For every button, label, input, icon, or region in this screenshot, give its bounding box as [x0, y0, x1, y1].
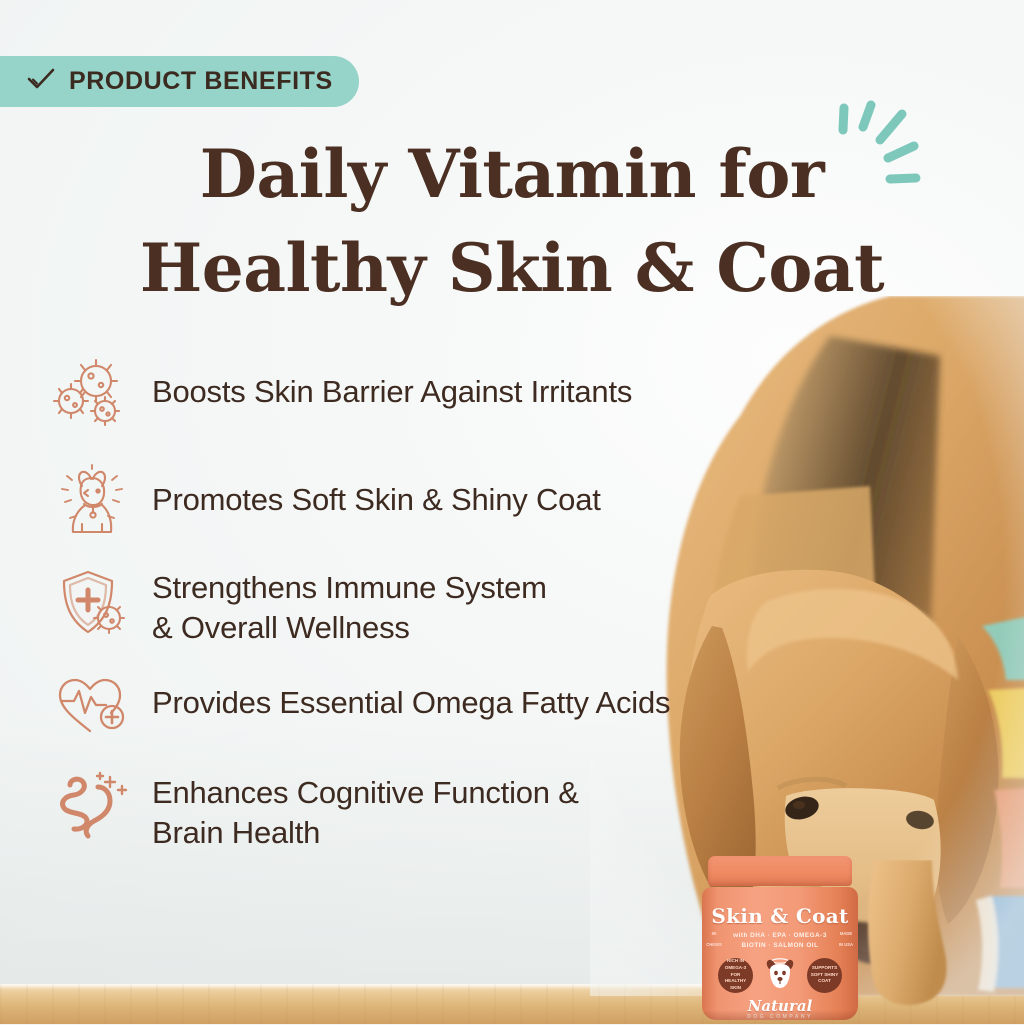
jar-body: 90 CHEWS MADE IN USA Skin & Coat with DH…	[702, 887, 858, 1020]
dog-head-halo-logo	[760, 955, 800, 995]
shiny-dog-icon	[52, 464, 130, 542]
product-benefits-label: PRODUCT BENEFITS	[69, 67, 333, 96]
benefit-text: Enhances Cognitive Function & Brain Heal…	[152, 769, 579, 854]
product-jar[interactable]: 90 CHEWS MADE IN USA Skin & Coat with DH…	[700, 856, 860, 1024]
benefit-text: Provides Essential Omega Fatty Acids	[152, 667, 670, 723]
jar-badge-right: SUPPORTS SOFT SHINY COAT	[807, 958, 842, 993]
shield-immune-icon	[52, 564, 130, 642]
benefit-text: Boosts Skin Barrier Against Irritants	[152, 356, 632, 412]
benefit-text: Promotes Soft Skin & Shiny Coat	[152, 464, 601, 520]
product-benefits-banner: PRODUCT BENEFITS	[0, 56, 359, 107]
germ-cells-icon	[52, 356, 130, 434]
jar-brand-name: Natural	[702, 997, 858, 1015]
headline-line-2: Healthy Skin & Coat	[40, 222, 984, 316]
benefit-text: Strengthens Immune System & Overall Well…	[152, 564, 547, 649]
benefit-item: Promotes Soft Skin & Shiny Coat	[52, 464, 872, 542]
gut-sparkle-icon	[52, 769, 130, 847]
jar-product-title: Skin & Coat	[702, 904, 858, 928]
sparkle-burst-icon	[828, 96, 938, 208]
check-icon	[26, 67, 56, 96]
jar-ingredients-line-1: with DHA · EPA · OMEGA-3	[702, 931, 858, 941]
jar-ingredients: with DHA · EPA · OMEGA-3 BIOTIN · SALMON…	[702, 931, 858, 950]
jar-lid	[708, 856, 852, 886]
jar-brand-subtitle: DOG COMPANY	[702, 1014, 858, 1020]
benefit-item: Boosts Skin Barrier Against Irritants	[52, 356, 872, 434]
heart-pulse-icon	[52, 667, 130, 745]
benefit-item: Enhances Cognitive Function & Brain Heal…	[52, 769, 872, 854]
jar-badge-left: RICH IN OMEGA-3 FOR HEALTHY SKIN	[718, 958, 753, 993]
jar-badge-row: RICH IN OMEGA-3 FOR HEALTHY SKIN SUPPORT…	[702, 955, 858, 995]
benefits-list: Boosts Skin Barrier Against Irritants	[52, 356, 872, 857]
benefit-item: Provides Essential Omega Fatty Acids	[52, 667, 872, 745]
marketing-image-canvas: PRODUCT BENEFITS Daily Vitamin for Healt…	[0, 0, 1024, 1024]
jar-ingredients-line-2: BIOTIN · SALMON OIL	[702, 941, 858, 951]
headline-line-1: Daily Vitamin for	[200, 135, 824, 213]
benefit-item: Strengthens Immune System & Overall Well…	[52, 564, 872, 649]
